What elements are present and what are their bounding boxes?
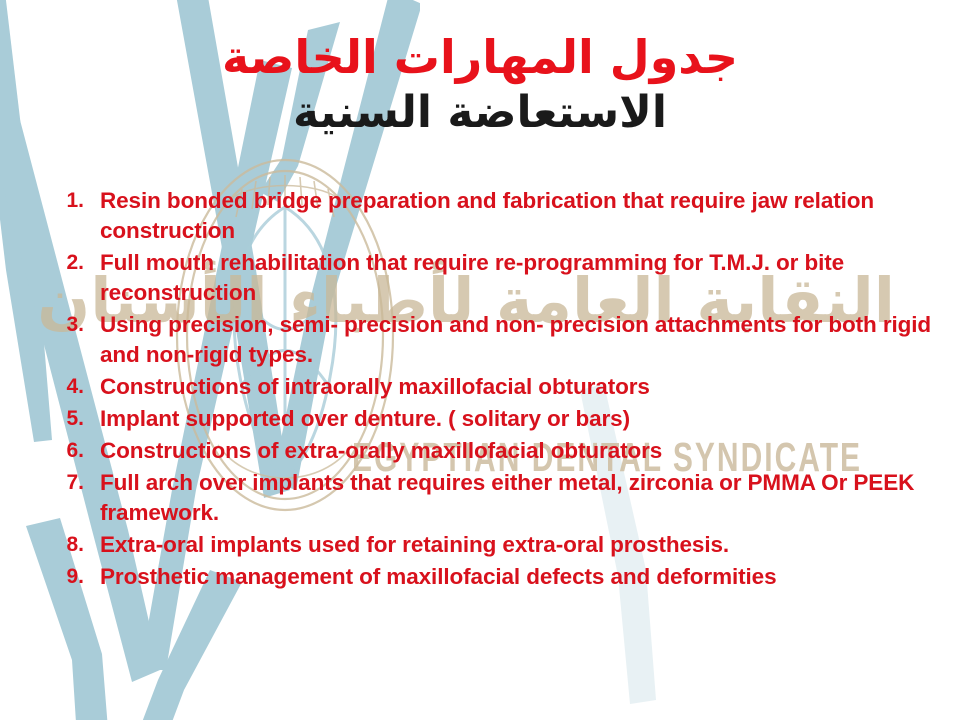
list-item: 1. Resin bonded bridge preparation and f… <box>56 186 936 246</box>
list-item-text: Using precision, semi- precision and non… <box>100 310 936 370</box>
list-item-text: Full mouth rehabilitation that require r… <box>100 248 936 308</box>
slide-title: جدول المهارات الخاصة الاستعاضة السنية <box>0 32 960 137</box>
list-item: 5. Implant supported over denture. ( sol… <box>56 404 936 434</box>
list-item-text: Prosthetic management of maxillofacial d… <box>100 562 936 592</box>
list-item-number: 6. <box>56 436 100 466</box>
list-item-text: Constructions of intraorally maxillofaci… <box>100 372 936 402</box>
list-item-text: Constructions of extra-orally maxillofac… <box>100 436 936 466</box>
list-item-number: 9. <box>56 562 100 592</box>
list-item: 7. Full arch over implants that requires… <box>56 468 936 528</box>
list-item: 8. Extra-oral implants used for retainin… <box>56 530 936 560</box>
list-item: 2. Full mouth rehabilitation that requir… <box>56 248 936 308</box>
list-item-number: 5. <box>56 404 100 434</box>
list-item: 9. Prosthetic management of maxillofacia… <box>56 562 936 592</box>
slide-content: جدول المهارات الخاصة الاستعاضة السنية 1.… <box>0 0 960 720</box>
list-item-number: 2. <box>56 248 100 278</box>
title-line-1: جدول المهارات الخاصة <box>0 32 960 84</box>
list-item: 6. Constructions of extra-orally maxillo… <box>56 436 936 466</box>
list-item-text: Resin bonded bridge preparation and fabr… <box>100 186 936 246</box>
list-item-number: 3. <box>56 310 100 340</box>
list-item-number: 7. <box>56 468 100 498</box>
list-item: 4. Constructions of intraorally maxillof… <box>56 372 936 402</box>
slide-canvas: النقابة العامة لأطباء الأسنان EGYPTIAN D… <box>0 0 960 720</box>
list-item-number: 4. <box>56 372 100 402</box>
list-item-text: Implant supported over denture. ( solita… <box>100 404 936 434</box>
list-item-number: 8. <box>56 530 100 560</box>
list-item-text: Extra-oral implants used for retaining e… <box>100 530 936 560</box>
list-item-number: 1. <box>56 186 100 216</box>
skills-list: 1. Resin bonded bridge preparation and f… <box>56 186 936 594</box>
list-item: 3. Using precision, semi- precision and … <box>56 310 936 370</box>
list-item-text: Full arch over implants that requires ei… <box>100 468 936 528</box>
title-line-2: الاستعاضة السنية <box>0 88 960 137</box>
